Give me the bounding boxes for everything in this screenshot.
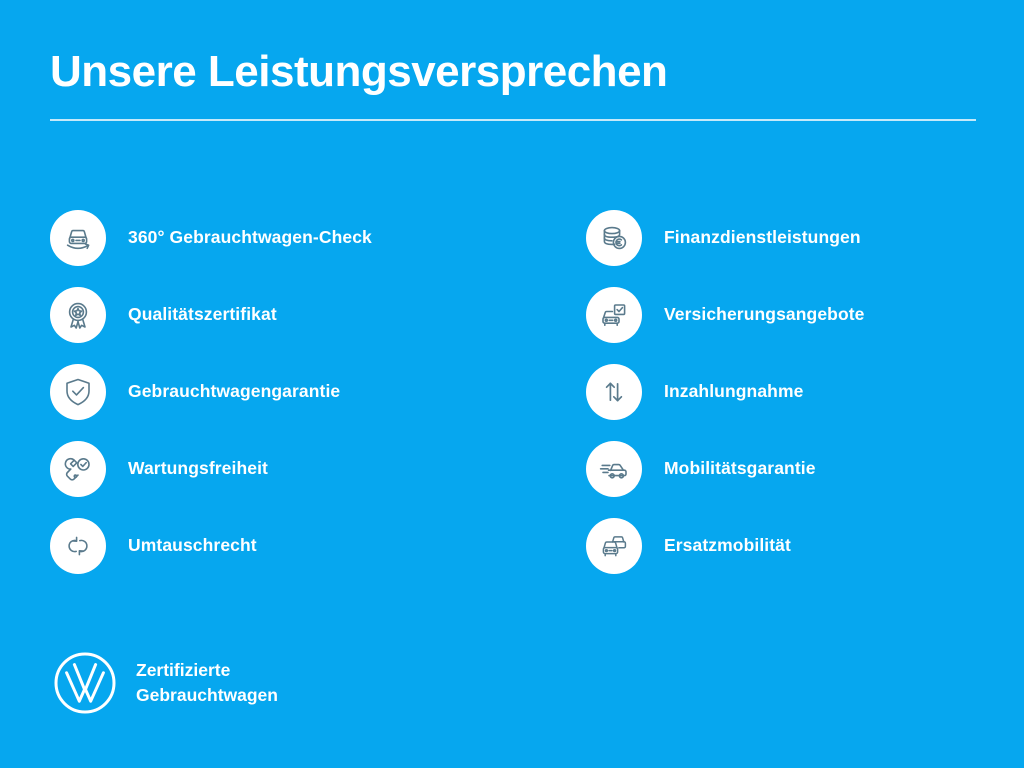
shield-check-icon bbox=[50, 364, 106, 420]
feature-label: Wartungsfreiheit bbox=[128, 458, 268, 479]
footer-line-1: Zertifizierte bbox=[136, 660, 230, 680]
two-cars-icon bbox=[586, 518, 642, 574]
wrench-check-icon bbox=[50, 441, 106, 497]
footer-line-2: Gebrauchtwagen bbox=[136, 685, 278, 705]
car-360-check-icon bbox=[50, 210, 106, 266]
feature-item-exchange-right[interactable]: Umtauschrecht bbox=[50, 507, 513, 584]
header: Unsere Leistungsversprechen bbox=[50, 48, 976, 121]
feature-label: Versicherungsangebote bbox=[664, 304, 865, 325]
features-column-left: 360° Gebrauchtwagen-Check Qualitätszerti… bbox=[50, 199, 513, 584]
footer-brand-text: Zertifizierte Gebrauchtwagen bbox=[136, 658, 278, 708]
coins-euro-icon bbox=[586, 210, 642, 266]
car-speed-icon bbox=[586, 441, 642, 497]
feature-label: Gebrauchtwagengarantie bbox=[128, 381, 340, 402]
car-document-check-icon bbox=[586, 287, 642, 343]
feature-label: Ersatzmobilität bbox=[664, 535, 791, 556]
exchange-arrows-icon bbox=[50, 518, 106, 574]
feature-item-maintenance-free[interactable]: Wartungsfreiheit bbox=[50, 430, 513, 507]
volkswagen-logo-icon bbox=[52, 650, 118, 716]
feature-label: 360° Gebrauchtwagen-Check bbox=[128, 227, 372, 248]
feature-item-replacement-mobility[interactable]: Ersatzmobilität bbox=[586, 507, 976, 584]
feature-item-mobility-guarantee[interactable]: Mobilitätsgarantie bbox=[586, 430, 976, 507]
award-rosette-icon bbox=[50, 287, 106, 343]
feature-item-financial-services[interactable]: Finanzdienstleistungen bbox=[586, 199, 976, 276]
feature-item-360-check[interactable]: 360° Gebrauchtwagen-Check bbox=[50, 199, 513, 276]
features-grid: 360° Gebrauchtwagen-Check Qualitätszerti… bbox=[50, 199, 976, 584]
feature-label: Finanzdienstleistungen bbox=[664, 227, 861, 248]
feature-label: Mobilitätsgarantie bbox=[664, 458, 816, 479]
up-down-arrows-icon bbox=[586, 364, 642, 420]
feature-item-warranty[interactable]: Gebrauchtwagengarantie bbox=[50, 353, 513, 430]
feature-item-insurance-offers[interactable]: Versicherungsangebote bbox=[586, 276, 976, 353]
header-divider bbox=[50, 119, 976, 121]
features-column-right: Finanzdienstleistungen Versicheru bbox=[513, 199, 976, 584]
feature-item-trade-in[interactable]: Inzahlungnahme bbox=[586, 353, 976, 430]
feature-label: Inzahlungnahme bbox=[664, 381, 803, 402]
feature-label: Qualitätszertifikat bbox=[128, 304, 277, 325]
feature-item-quality-certificate[interactable]: Qualitätszertifikat bbox=[50, 276, 513, 353]
feature-label: Umtauschrecht bbox=[128, 535, 257, 556]
footer-brand: Zertifizierte Gebrauchtwagen bbox=[52, 650, 278, 716]
page-title: Unsere Leistungsversprechen bbox=[50, 48, 976, 96]
slide-root: Unsere Leistungsversprechen bbox=[0, 0, 1024, 768]
